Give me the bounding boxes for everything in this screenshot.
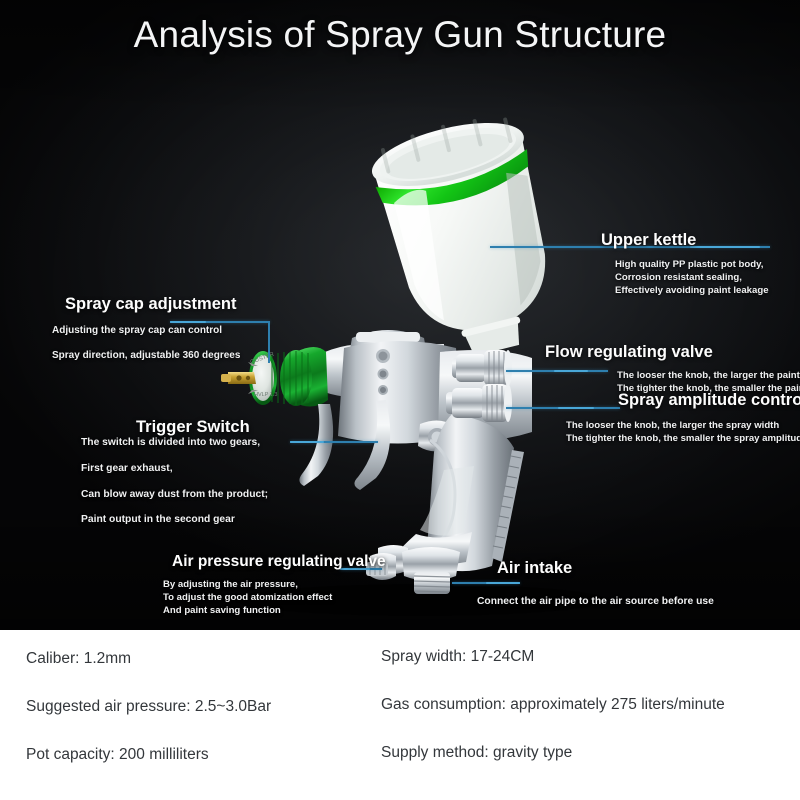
callout-air-pressure-line-3: And paint saving function (163, 604, 281, 618)
spec-supply-method: Supply method: gravity type (381, 744, 572, 762)
hero-dark-background: GUSTER HVLP 1.3 (0, 0, 800, 630)
callout-air-intake-heading: Air intake (497, 559, 572, 578)
connector-glow (486, 582, 520, 584)
infographic-page: GUSTER HVLP 1.3 (0, 0, 800, 800)
callout-flow-valve-line-1: The looser the knob, the larger the pain… (617, 369, 800, 383)
connector-glow (290, 441, 324, 443)
callout-spray-cap-heading: Spray cap adjustment (65, 295, 236, 314)
connector-spray-cap-vertical (268, 321, 270, 363)
callout-amplitude-valve-heading: Spray amplitude control valve (618, 391, 800, 410)
spec-gas-consumption: Gas consumption: approximately 275 liter… (381, 696, 725, 714)
spec-spray-width: Spray width: 17-24CM (381, 648, 534, 666)
spray-gun-illustration: GUSTER HVLP 1.3 (0, 0, 800, 630)
svg-text:HVLP 1.3: HVLP 1.3 (254, 392, 277, 398)
specifications-panel: Caliber: 1.2mm Suggested air pressure: 2… (0, 630, 800, 800)
callout-trigger-switch-line-1: The switch is divided into two gears, (81, 436, 260, 450)
page-title: Analysis of Spray Gun Structure (0, 14, 800, 56)
callout-upper-kettle-line-2: Corrosion resistant sealing, (615, 271, 742, 285)
spec-pot-capacity: Pot capacity: 200 milliliters (26, 746, 209, 764)
callout-trigger-switch-line-2: First gear exhaust, (81, 462, 173, 476)
connector-flow-valve (506, 370, 608, 372)
callout-trigger-switch-line-4: Paint output in the second gear (81, 513, 235, 527)
connector-trigger-switch (290, 441, 378, 443)
callout-upper-kettle-line-3: Effectively avoiding paint leakage (615, 284, 769, 298)
callout-amplitude-valve-line-2: The tighter the knob, the smaller the sp… (566, 432, 800, 446)
callout-air-intake-line-1: Connect the air pipe to the air source b… (477, 595, 714, 609)
callout-upper-kettle-line-1: High quality PP plastic pot body, (615, 258, 763, 272)
spec-suggested-air-pressure: Suggested air pressure: 2.5~3.0Bar (26, 698, 271, 716)
callout-upper-kettle-heading: Upper kettle (601, 231, 696, 250)
connector-glow (558, 407, 594, 409)
callout-spray-cap-line-2: Spray direction, adjustable 360 degrees (52, 345, 240, 367)
callout-trigger-switch-line-3: Can blow away dust from the product; (81, 488, 268, 502)
callout-air-pressure-line-1: By adjusting the air pressure, (163, 578, 298, 592)
callout-spray-cap-line-1: Adjusting the spray cap can control (52, 320, 222, 342)
callout-air-pressure-heading: Air pressure regulating valve (172, 553, 386, 571)
callout-trigger-switch-heading: Trigger Switch (136, 418, 250, 437)
connector-glow (690, 246, 760, 248)
spec-caliber: Caliber: 1.2mm (26, 650, 131, 668)
callout-air-pressure-line-2: To adjust the good atomization effect (163, 591, 332, 605)
connector-air-intake (452, 582, 520, 584)
callout-amplitude-valve-line-1: The looser the knob, the larger the spra… (566, 419, 779, 433)
connector-amplitude-valve (506, 407, 620, 409)
callout-flow-valve-heading: Flow regulating valve (545, 343, 713, 362)
connector-glow (554, 370, 588, 372)
